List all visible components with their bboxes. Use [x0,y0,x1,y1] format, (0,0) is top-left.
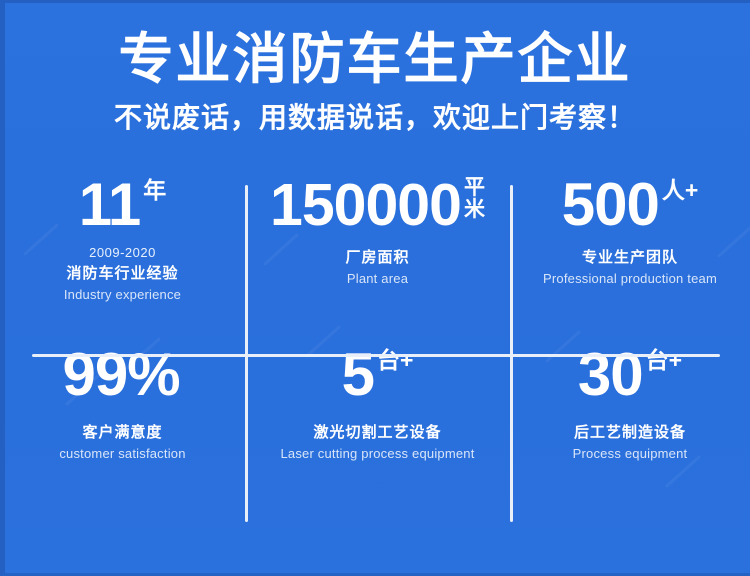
stat-label-cn: 激光切割工艺设备 [313,423,441,443]
stat-unit-char-1: 平 [464,177,485,199]
stat-range: 2009-2020 [89,245,156,261]
divider-vertical-left [245,185,248,522]
stat-cell-plant-area: 150000 平 米 厂房面积 Plant area [245,152,510,322]
stat-label-en: customer satisfaction [59,445,185,462]
stat-value-row: 500 人+ [562,174,699,236]
stat-label-en: Process equipment [573,445,688,462]
divider-vertical-right [510,185,513,522]
stat-unit: 台+ [377,344,413,372]
banner-header: 专业消防车生产企业 不说废话，用数据说话，欢迎上门考察！ [0,0,750,135]
stat-label-cn: 厂房面积 [345,248,409,268]
stat-cell-process-equipment: 30 台+ 后工艺制造设备 Process equipment [510,322,750,492]
stat-label-en: Plant area [347,270,408,287]
divider-horizontal [32,354,720,357]
stat-unit: 人+ [662,174,698,202]
stat-unit: 年 [143,174,166,202]
stats-grid: 11 年 2009-2020 消防车行业经验 Industry experien… [0,152,750,500]
stat-unit-char-2: 米 [464,199,485,221]
page-title: 专业消防车生产企业 [0,27,750,91]
promotional-banner: 专业消防车生产企业 不说废话，用数据说话，欢迎上门考察！ 11 年 2009-2… [0,0,750,576]
stat-label-cn: 消防车行业经验 [66,264,178,284]
stat-label-cn: 客户满意度 [82,423,162,443]
stat-value-row: 150000 平 米 [270,174,485,236]
stat-value-row: 11 年 [79,174,166,236]
stat-number: 11 [79,174,140,236]
stat-number: 500 [562,174,659,236]
stat-cell-production-team: 500 人+ 专业生产团队 Professional production te… [510,152,750,322]
stat-label-cn: 后工艺制造设备 [574,423,686,443]
stat-unit: 平 米 [464,174,485,221]
stat-label-en: Laser cutting process equipment [280,445,474,462]
stat-unit: 台+ [646,344,682,372]
stat-number: 150000 [270,174,461,236]
stat-label-cn: 专业生产团队 [582,248,678,268]
stat-cell-customer-satisfaction: 99% 客户满意度 customer satisfaction [0,322,245,492]
page-subtitle: 不说废话，用数据说话，欢迎上门考察！ [0,101,750,135]
stat-cell-laser-cutting-equipment: 5 台+ 激光切割工艺设备 Laser cutting process equi… [245,322,510,492]
stat-label-en: Industry experience [64,286,181,303]
stat-label-en: Professional production team [543,270,717,287]
stat-cell-industry-experience: 11 年 2009-2020 消防车行业经验 Industry experien… [0,152,245,322]
